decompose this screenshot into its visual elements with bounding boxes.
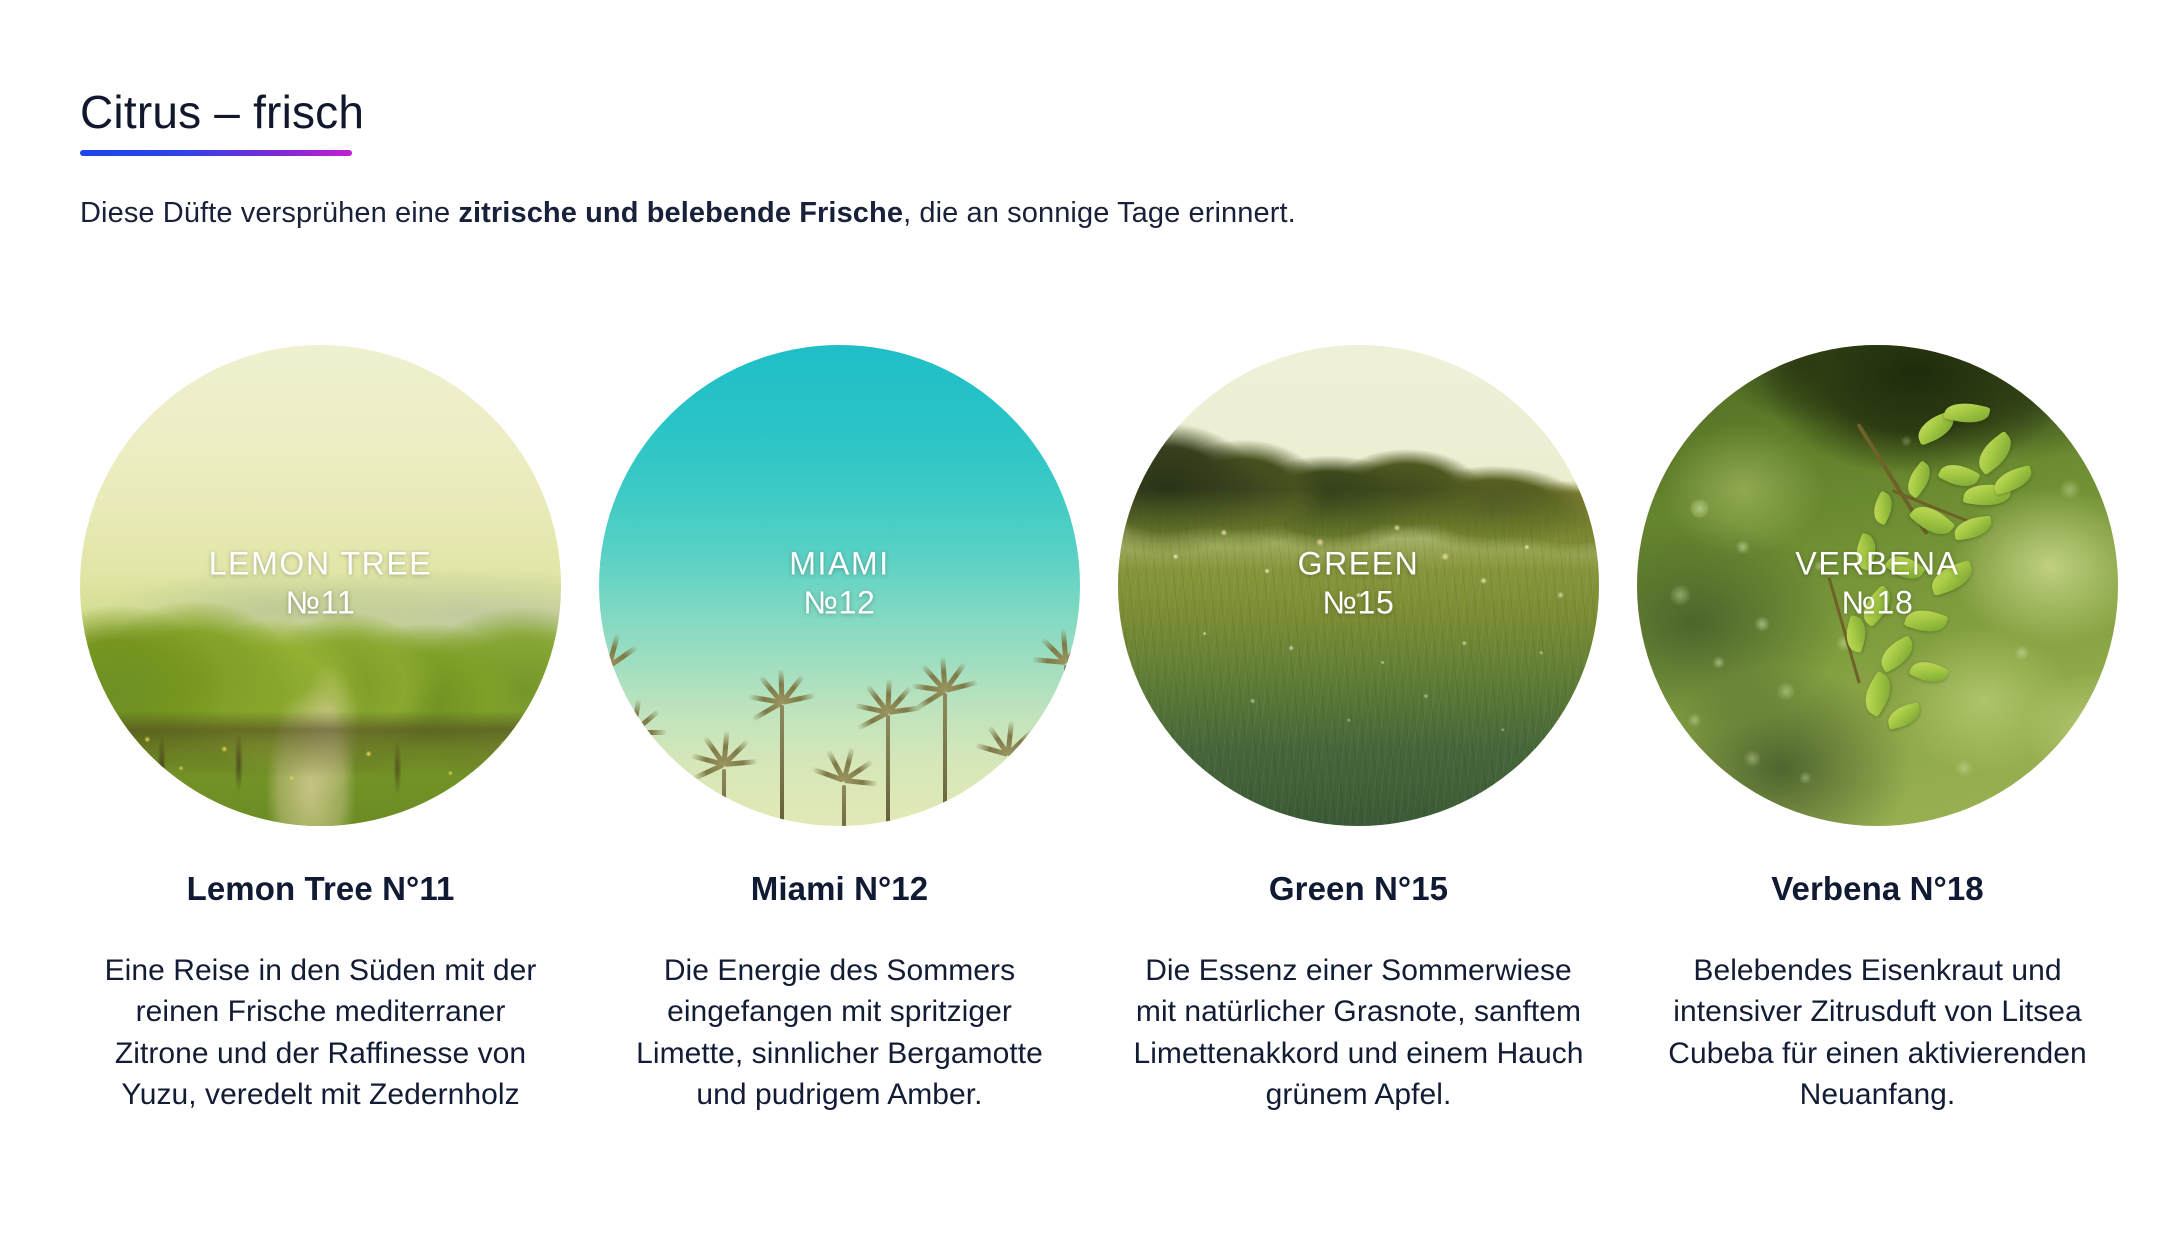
fragrance-image-miami[interactable]: MIAMI №12 xyxy=(599,345,1080,826)
subtitle-text-lead: Diese Düfte versprühen eine xyxy=(80,197,458,229)
overlay-number: №11 xyxy=(80,584,561,624)
card-title: Lemon Tree N°11 xyxy=(187,870,455,908)
card-title: Green N°15 xyxy=(1269,870,1448,908)
fragrance-image-verbena[interactable]: VERBENA №18 xyxy=(1637,345,2118,826)
image-overlay-caption: MIAMI №12 xyxy=(599,544,1080,623)
card-title: Miami N°12 xyxy=(751,870,928,908)
fragrance-image-lemon-tree[interactable]: LEMON TREE №11 xyxy=(80,345,561,826)
overlay-name: GREEN xyxy=(1298,545,1420,581)
overlay-name: MIAMI xyxy=(789,545,889,581)
card-description: Die Essenz einer Sommerwiese mit natürli… xyxy=(1131,950,1586,1116)
image-overlay-caption: LEMON TREE №11 xyxy=(80,544,561,623)
overlay-name: VERBENA xyxy=(1795,545,1959,581)
fragrance-card-grid: LEMON TREE №11 Lemon Tree N°11 Eine Reis… xyxy=(80,345,2080,1116)
page-title: Citrus – frisch xyxy=(80,88,364,136)
overlay-name: LEMON TREE xyxy=(209,545,432,581)
card-title: Verbena N°18 xyxy=(1771,870,1984,908)
subtitle-text-emphasis: zitrische und belebende Frische xyxy=(458,197,903,229)
fragrance-card[interactable]: MIAMI №12 Miami N°12 Die Energie des Som… xyxy=(599,345,1080,1116)
title-underline-rule xyxy=(80,150,352,156)
overlay-number: №18 xyxy=(1637,584,2118,624)
fragrance-category-page: Citrus – frisch Diese Düfte versprühen e… xyxy=(0,0,2160,1258)
fragrance-image-green[interactable]: GREEN №15 xyxy=(1118,345,1599,826)
card-description: Belebendes Eisenkraut und intensiver Zit… xyxy=(1650,950,2105,1116)
section-subtitle: Diese Düfte versprühen eine zitrische un… xyxy=(80,197,1296,230)
card-description: Die Energie des Sommers eingefangen mit … xyxy=(612,950,1067,1116)
fragrance-card[interactable]: GREEN №15 Green N°15 Die Essenz einer So… xyxy=(1118,345,1599,1116)
fragrance-card[interactable]: LEMON TREE №11 Lemon Tree N°11 Eine Reis… xyxy=(80,345,561,1116)
subtitle-text-tail: , die an sonnige Tage erinnert. xyxy=(903,197,1296,229)
card-description: Eine Reise in den Süden mit der reinen F… xyxy=(93,950,548,1116)
image-overlay-caption: VERBENA №18 xyxy=(1637,544,2118,623)
image-overlay-caption: GREEN №15 xyxy=(1118,544,1599,623)
fragrance-card[interactable]: VERBENA №18 Verbena N°18 Belebendes Eise… xyxy=(1637,345,2118,1116)
overlay-number: №12 xyxy=(599,584,1080,624)
section-header: Citrus – frisch xyxy=(80,88,364,156)
overlay-number: №15 xyxy=(1118,584,1599,624)
